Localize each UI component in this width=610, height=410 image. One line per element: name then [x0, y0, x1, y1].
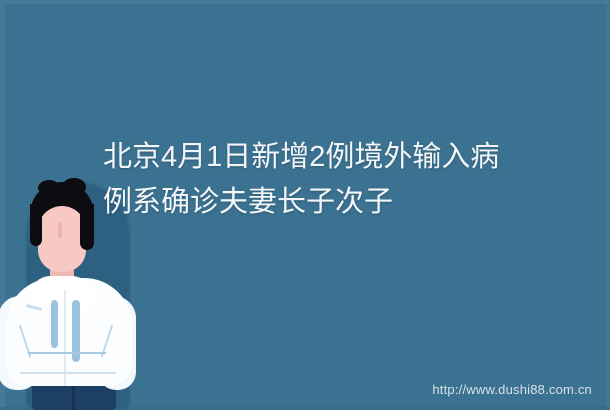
news-cover-image: 北京4月1日新增2例境外输入病 例系确诊夫妻长子次子 http://www.du…: [0, 0, 610, 410]
pocket-opening-line: [28, 352, 106, 354]
hoodie-hem-line: [20, 372, 116, 374]
top-edge-band: [0, 0, 610, 4]
headline-line-2: 例系确诊夫妻长子次子: [103, 180, 573, 225]
watermark-url: http://www.dushi88.com.cn: [432, 382, 592, 397]
hair-sideburn-left: [30, 204, 42, 246]
face: [38, 206, 86, 272]
headline: 北京4月1日新增2例境外输入病 例系确诊夫妻长子次子: [103, 135, 573, 225]
right-edge-band: [606, 0, 610, 410]
hood-collar: [30, 276, 92, 306]
hair-sideburn-right: [80, 204, 94, 250]
hair-tuft-right: [62, 178, 86, 196]
drawstring-left: [51, 300, 58, 348]
headline-line-1: 北京4月1日新增2例境外输入病: [103, 135, 573, 180]
nose-shade: [58, 222, 62, 238]
hair-tuft-left: [38, 180, 60, 196]
